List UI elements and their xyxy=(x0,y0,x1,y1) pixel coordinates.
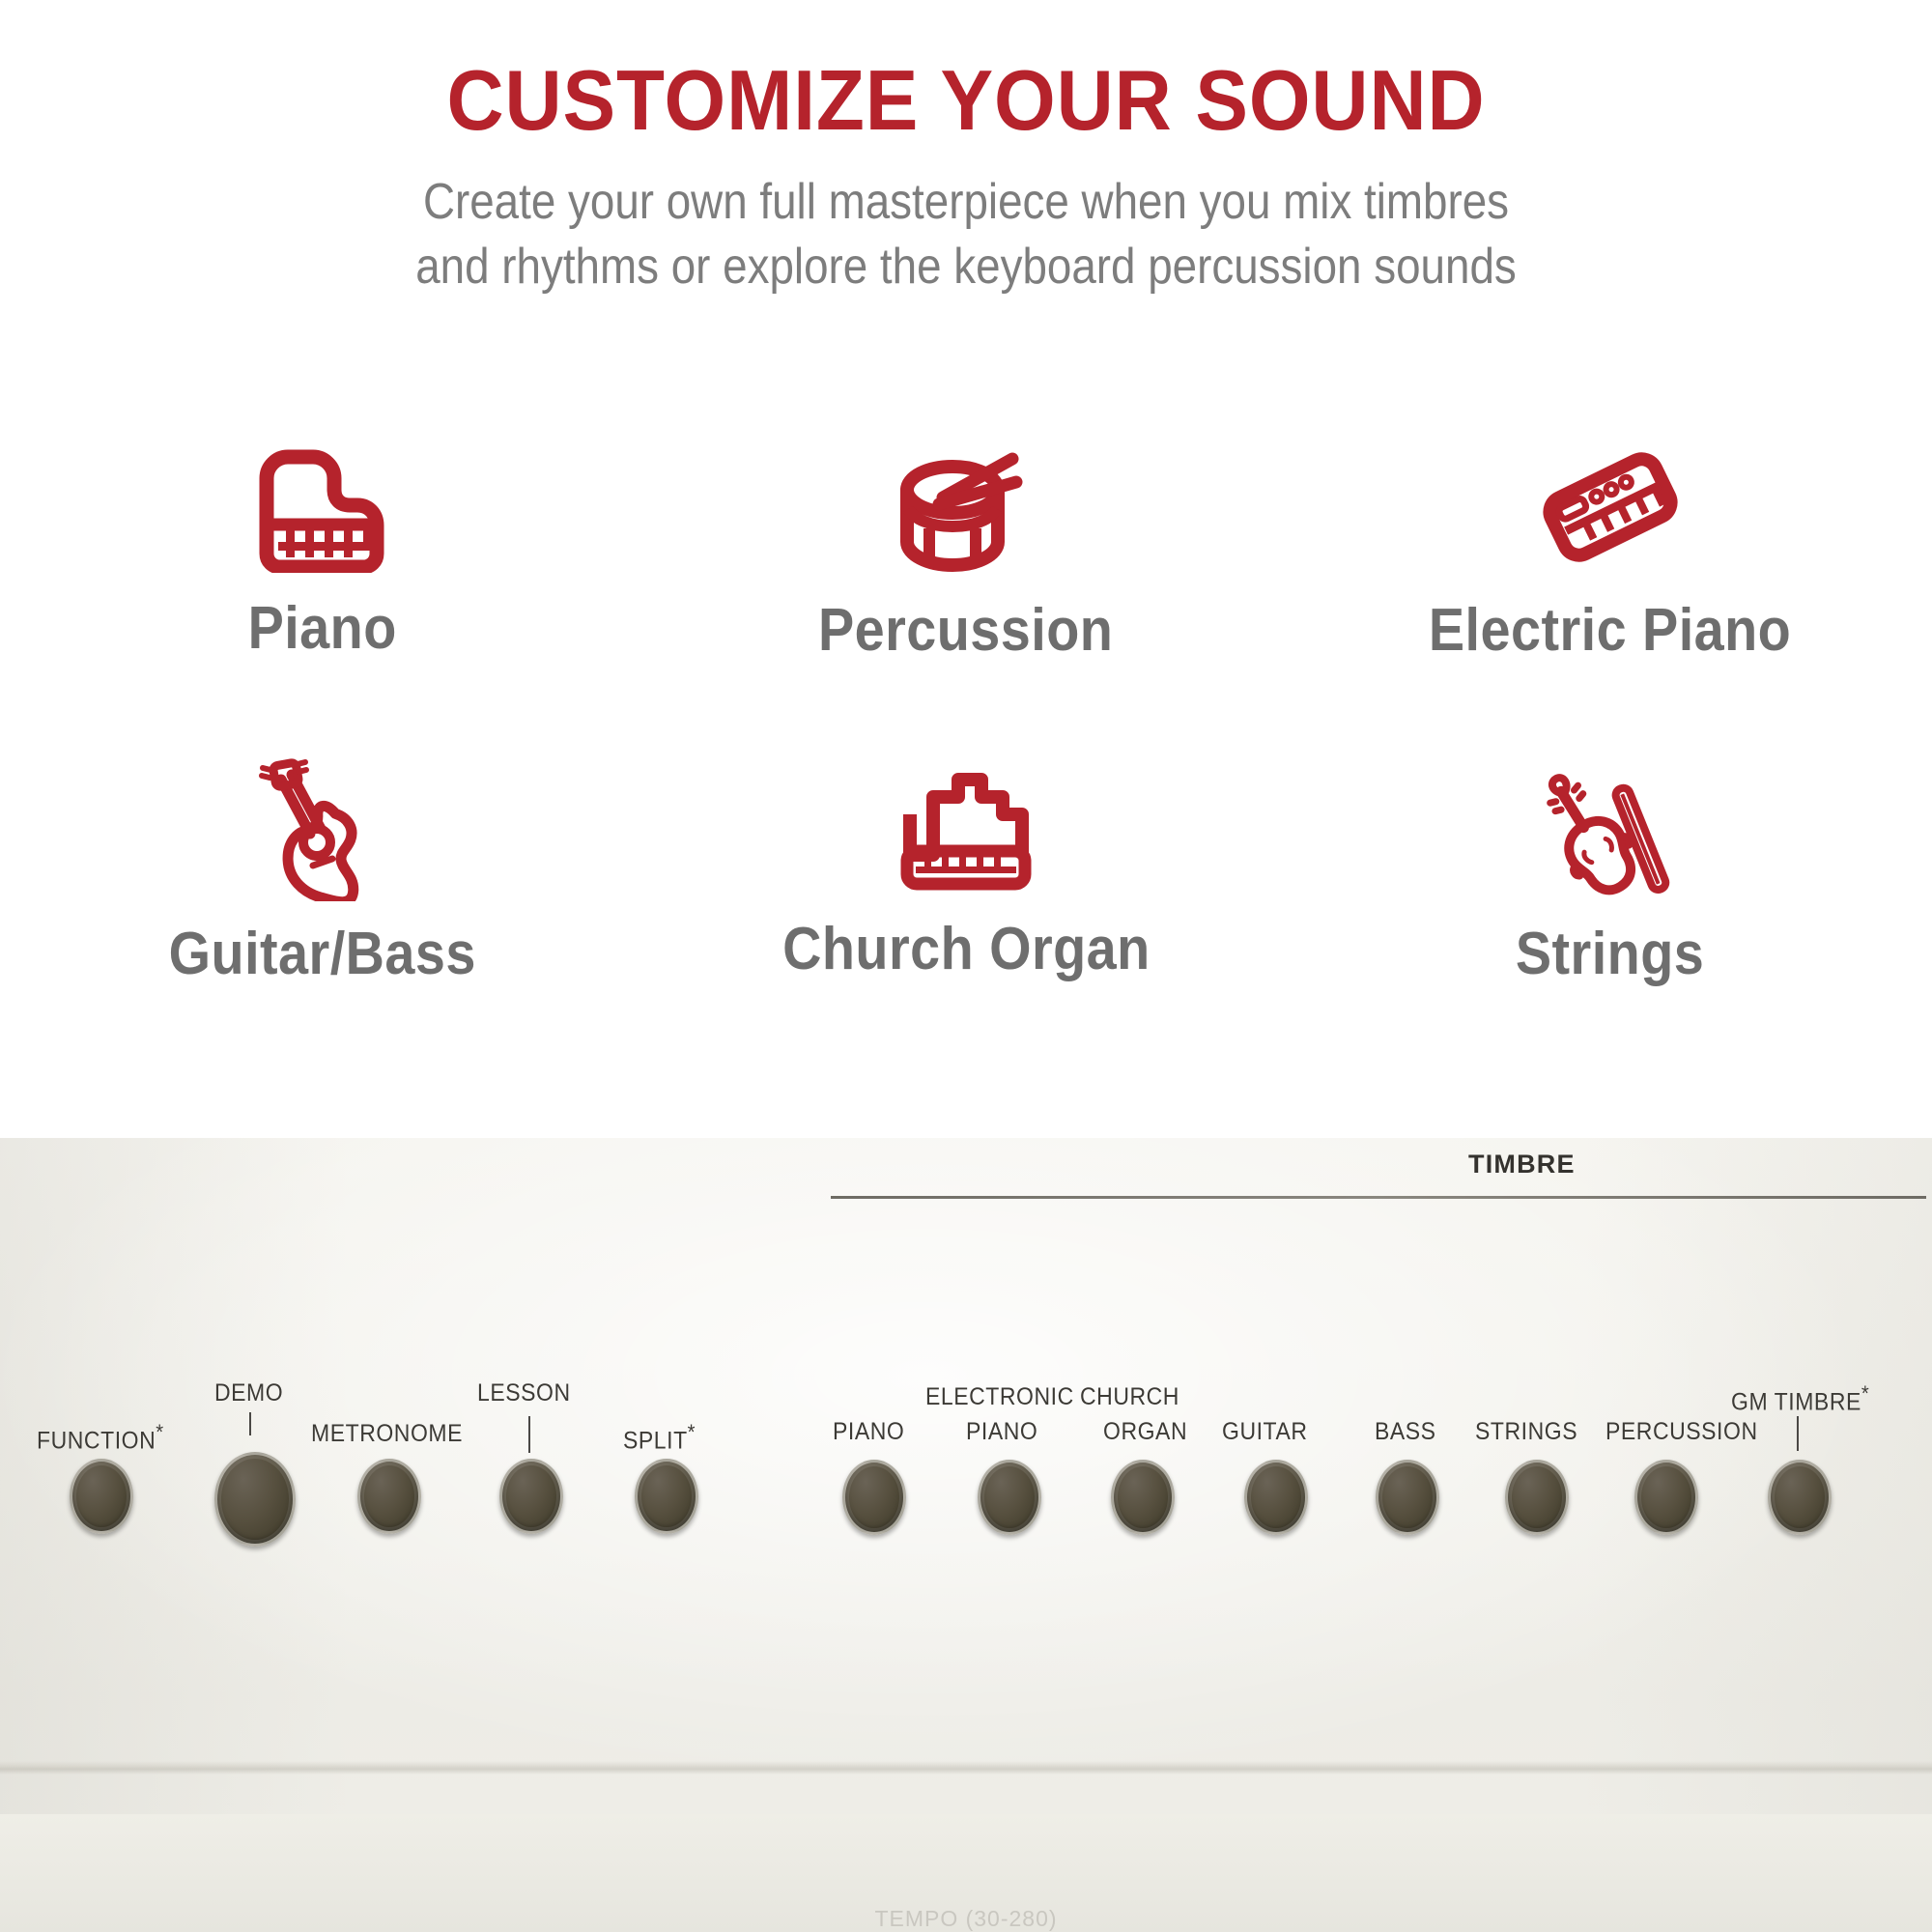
feature-icon-grid: Piano Percussion xyxy=(0,440,1932,980)
demo-button[interactable] xyxy=(214,1452,296,1547)
control-label-lesson: LESSON xyxy=(477,1379,571,1407)
timbre-button-bass[interactable] xyxy=(1376,1460,1439,1535)
timbre-divider-rule xyxy=(831,1196,1926,1199)
header-block: CUSTOMIZE YOUR SOUND Create your own ful… xyxy=(0,56,1932,298)
feature-highlight-section: CUSTOMIZE YOUR SOUND Create your own ful… xyxy=(0,0,1932,1138)
keyboard-control-strip: FUNCTION* DEMO METRONOME LESSON SPLIT* T… xyxy=(0,1138,1932,1761)
feature-label: Electric Piano xyxy=(1429,596,1791,665)
violin-icon xyxy=(1539,758,1682,898)
page-subtitle: Create your own full masterpiece when yo… xyxy=(116,170,1816,298)
timbre-section-title: TIMBRE xyxy=(1468,1150,1576,1179)
timbre-button-electronic-piano[interactable] xyxy=(978,1460,1041,1535)
lesson-tick xyxy=(528,1416,530,1453)
timbre-label-electronic-piano: PIANO xyxy=(966,1418,1037,1446)
feature-item-piano: Piano xyxy=(0,440,644,662)
timbre-button-church-organ[interactable] xyxy=(1111,1460,1175,1535)
timbre-button-gm-timbre[interactable] xyxy=(1768,1460,1832,1535)
timbre-label-gm-timbre: GM TIMBRE* xyxy=(1731,1381,1869,1416)
feature-item-church-organ: Church Organ xyxy=(644,758,1289,980)
feature-label: Piano xyxy=(247,594,396,663)
control-label-metronome: METRONOME xyxy=(311,1420,463,1448)
split-button[interactable] xyxy=(635,1459,698,1534)
panel-seam xyxy=(0,1761,1932,1775)
timbre-button-guitar[interactable] xyxy=(1244,1460,1308,1535)
keyboard-photo-panel: FUNCTION* DEMO METRONOME LESSON SPLIT* T… xyxy=(0,1138,1932,1932)
feature-item-strings: Strings xyxy=(1288,758,1932,980)
subtitle-line-2: and rhythms or explore the keyboard perc… xyxy=(116,235,1816,299)
control-label-split: SPLIT* xyxy=(623,1420,696,1455)
timbre-label-electronic: ELECTRONIC xyxy=(925,1383,1074,1411)
timbre-label-piano: PIANO xyxy=(833,1418,904,1446)
tempo-range-label: TEMPO (30-280) xyxy=(0,1906,1932,1932)
lesson-button[interactable] xyxy=(499,1459,563,1534)
function-button[interactable] xyxy=(70,1459,133,1534)
timbre-label-church-organ: ORGAN xyxy=(1103,1418,1187,1446)
church-organ-icon xyxy=(898,758,1034,894)
timbre-button-strings[interactable] xyxy=(1505,1460,1569,1535)
demo-tick xyxy=(249,1412,251,1435)
timbre-button-piano[interactable] xyxy=(842,1460,906,1535)
metronome-button[interactable] xyxy=(357,1459,421,1534)
feature-label: Percussion xyxy=(818,596,1113,665)
control-label-demo: DEMO xyxy=(214,1379,283,1407)
timbre-label-guitar: GUITAR xyxy=(1222,1418,1308,1446)
feature-label: Guitar/Bass xyxy=(168,920,475,988)
feature-label: Strings xyxy=(1516,920,1704,988)
timbre-label-strings: STRINGS xyxy=(1475,1418,1577,1446)
feature-item-guitar-bass: Guitar/Bass xyxy=(0,758,644,980)
feature-item-percussion: Percussion xyxy=(644,440,1289,662)
grand-piano-icon xyxy=(249,440,394,573)
acoustic-guitar-icon xyxy=(257,758,386,898)
feature-label: Church Organ xyxy=(782,915,1151,983)
feature-item-electric-piano: Electric Piano xyxy=(1288,440,1932,662)
timbre-label-percussion: PERCUSSION xyxy=(1605,1418,1758,1446)
timbre-label-church: CHURCH xyxy=(1080,1383,1179,1411)
gm-timbre-tick xyxy=(1797,1416,1799,1451)
page-title: CUSTOMIZE YOUR SOUND xyxy=(68,56,1864,145)
electric-keyboard-icon xyxy=(1537,440,1684,575)
snare-drum-icon xyxy=(893,440,1039,575)
subtitle-line-1: Create your own full masterpiece when yo… xyxy=(116,170,1816,235)
timbre-button-percussion[interactable] xyxy=(1634,1460,1698,1535)
control-label-function: FUNCTION* xyxy=(37,1420,164,1455)
timbre-label-bass: BASS xyxy=(1375,1418,1436,1446)
